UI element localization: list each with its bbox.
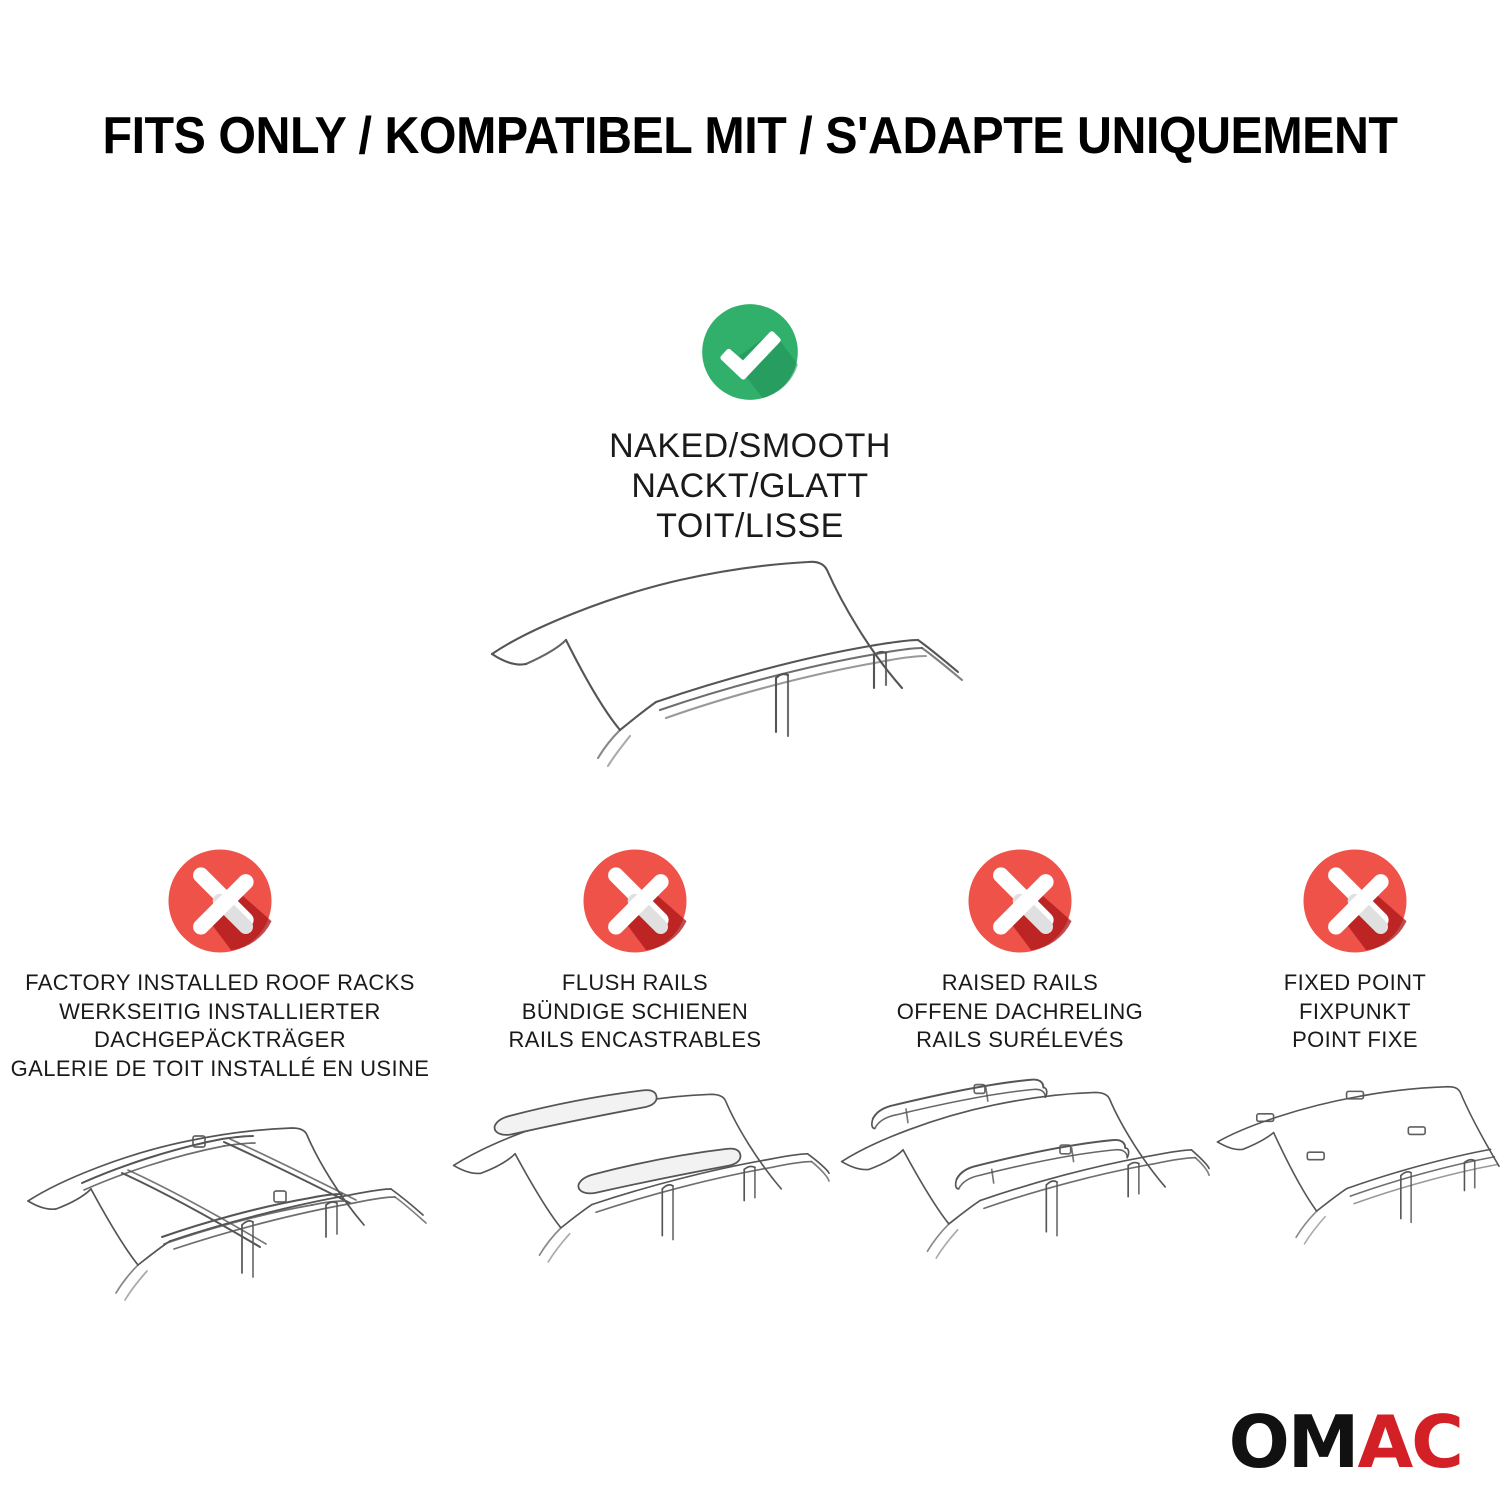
incompatible-section: FACTORY INSTALLED ROOF RACKS WERKSEITIG … xyxy=(0,845,1500,1327)
label-line-2: BÜNDIGE SCHIENEN xyxy=(509,998,762,1027)
compatible-label-fr: TOIT/LISSE xyxy=(609,506,891,546)
red-cross-icon xyxy=(964,845,1076,957)
page-title: FITS ONLY / KOMPATIBEL MIT / S'ADAPTE UN… xyxy=(53,106,1448,166)
label-line-3: RAILS ENCASTRABLES xyxy=(509,1026,762,1055)
incompatible-item-raised-rails: RAISED RAILS OFFENE DACHRELING RAILS SUR… xyxy=(830,845,1210,1327)
label-line-2: WERKSEITIG INSTALLIERTER xyxy=(11,998,430,1027)
label-line-2: FIXPUNKT xyxy=(1284,998,1427,1027)
incompatible-item-flush-rails: FLUSH RAILS BÜNDIGE SCHIENEN RAILS ENCAS… xyxy=(440,845,830,1327)
incompatible-labels: FACTORY INSTALLED ROOF RACKS WERKSEITIG … xyxy=(11,969,430,1083)
red-cross-icon xyxy=(579,845,691,957)
car-roof-factory-roof-racks-illustration xyxy=(0,1097,440,1327)
car-roof-raised-rails-illustration xyxy=(830,1069,1210,1299)
label-line-3: DACHGEPÄCKTRÄGER xyxy=(11,1026,430,1055)
compatible-label-en: NAKED/SMOOTH xyxy=(609,426,891,466)
red-cross-icon xyxy=(1299,845,1411,957)
logo-text-om: OM xyxy=(1229,1406,1358,1478)
red-cross-icon xyxy=(164,845,276,957)
incompatible-item-fixed-point: FIXED POINT FIXPUNKT POINT FIXE xyxy=(1210,845,1500,1327)
incompatible-labels: FLUSH RAILS BÜNDIGE SCHIENEN RAILS ENCAS… xyxy=(509,969,762,1055)
compatible-labels: NAKED/SMOOTH NACKT/GLATT TOIT/LISSE xyxy=(609,426,891,546)
incompatible-labels: FIXED POINT FIXPUNKT POINT FIXE xyxy=(1284,969,1427,1055)
label-line-1: FLUSH RAILS xyxy=(509,969,762,998)
green-check-icon xyxy=(698,300,802,404)
omac-logo: OMAC xyxy=(1229,1406,1462,1478)
car-roof-fixed-point-illustration xyxy=(1210,1069,1500,1299)
logo-text-ac: AC xyxy=(1357,1406,1462,1478)
label-line-2: OFFENE DACHRELING xyxy=(897,998,1143,1027)
compatible-label-de: NACKT/GLATT xyxy=(609,466,891,506)
label-line-1: FACTORY INSTALLED ROOF RACKS xyxy=(11,969,430,998)
label-line-1: FIXED POINT xyxy=(1284,969,1427,998)
car-roof-naked-smooth-illustration xyxy=(470,554,1030,804)
compatible-section: NAKED/SMOOTH NACKT/GLATT TOIT/LISSE xyxy=(0,300,1500,804)
incompatible-labels: RAISED RAILS OFFENE DACHRELING RAILS SUR… xyxy=(897,969,1143,1055)
label-line-3: RAILS SURÉLEVÉS xyxy=(897,1026,1143,1055)
incompatible-item-factory-roof-racks: FACTORY INSTALLED ROOF RACKS WERKSEITIG … xyxy=(0,845,440,1327)
label-line-1: RAISED RAILS xyxy=(897,969,1143,998)
label-line-4: GALERIE DE TOIT INSTALLÉ EN USINE xyxy=(11,1055,430,1084)
car-roof-flush-rails-illustration xyxy=(440,1069,830,1299)
label-line-3: POINT FIXE xyxy=(1284,1026,1427,1055)
